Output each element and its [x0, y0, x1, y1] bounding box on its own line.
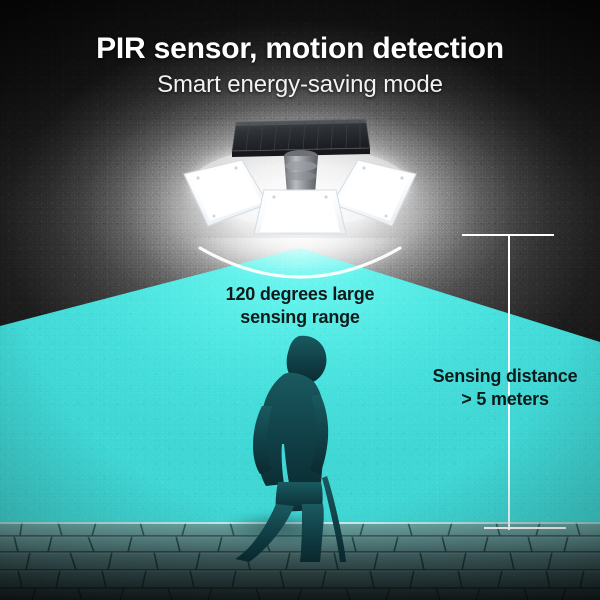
callout-angle-line1: 120 degrees large — [190, 283, 410, 306]
callout-distance-line1: Sensing distance — [410, 365, 600, 388]
led-head-center — [254, 190, 346, 234]
callout-sensing-distance: Sensing distance > 5 meters — [410, 365, 600, 411]
bracket-cap-bottom — [484, 527, 566, 529]
callout-distance-line2: > 5 meters — [410, 388, 600, 411]
callout-sensing-angle: 120 degrees large sensing range — [190, 283, 410, 329]
solar-motion-sensor-light — [170, 108, 430, 238]
callout-angle-line2: sensing range — [190, 306, 410, 329]
walking-person-silhouette — [222, 332, 372, 562]
subheadline: Smart energy-saving mode — [0, 71, 600, 99]
product-marketing-image: PIR sensor, motion detection Smart energ… — [0, 0, 600, 600]
headline: PIR sensor, motion detection — [0, 32, 600, 66]
